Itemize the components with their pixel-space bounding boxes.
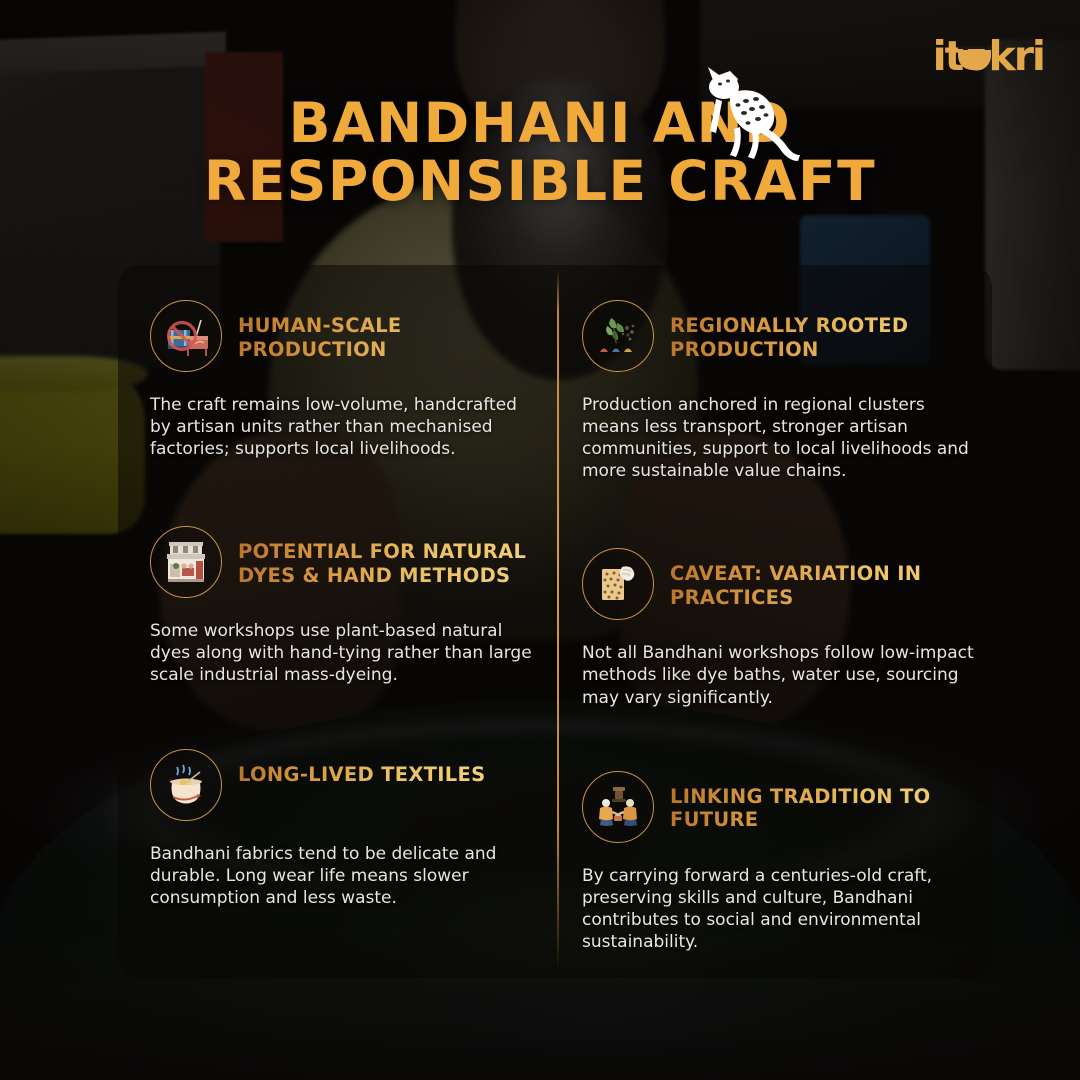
feature-title: CAVEAT: VARIATION IN PRACTICES xyxy=(670,548,982,610)
spacer xyxy=(582,709,982,771)
column-divider xyxy=(557,270,559,970)
feature-header: REGIONALLY ROOTED PRODUCTION xyxy=(582,300,982,372)
feature-title: POTENTIAL FOR NATURAL DYES & HAND METHOD… xyxy=(238,526,542,588)
feature-header: CAVEAT: VARIATION IN PRACTICES xyxy=(582,548,982,620)
feature-body: Some workshops use plant-based natural d… xyxy=(150,620,542,686)
feature-item-human-scale-production[interactable]: HUMAN-SCALE PRODUCTION The craft remains… xyxy=(150,300,542,460)
column-right: REGIONALLY ROOTED PRODUCTION Production … xyxy=(582,300,982,953)
leopard-silhouette-icon xyxy=(686,57,806,167)
feature-item-long-lived-textiles[interactable]: LONG-LIVED TEXTILES Bandhani fabrics ten… xyxy=(150,749,542,909)
column-left: HUMAN-SCALE PRODUCTION The craft remains… xyxy=(150,300,542,909)
feature-title: LINKING TRADITION TO FUTURE xyxy=(670,771,982,833)
feature-body: Bandhani fabrics tend to be delicate and… xyxy=(150,843,542,909)
leaves-and-dye-powders-icon xyxy=(582,300,654,372)
no-factory-machine-icon xyxy=(150,300,222,372)
hand-holding-patterned-fabric-icon xyxy=(582,548,654,620)
feature-body: Not all Bandhani workshops follow low-im… xyxy=(582,642,982,708)
feature-header: LONG-LIVED TEXTILES xyxy=(150,749,542,821)
page-title: BANDHANI AND RESPONSIBLE CRAFT xyxy=(0,95,1080,211)
feature-item-natural-dyes[interactable]: POTENTIAL FOR NATURAL DYES & HAND METHOD… xyxy=(150,526,542,686)
spacer xyxy=(150,460,542,526)
feature-body: The craft remains low-volume, handcrafte… xyxy=(150,394,542,460)
feature-title: LONG-LIVED TEXTILES xyxy=(238,749,486,787)
spacer xyxy=(582,482,982,548)
feature-item-linking-tradition[interactable]: LINKING TRADITION TO FUTURE By carrying … xyxy=(582,771,982,953)
feature-header: POTENTIAL FOR NATURAL DYES & HAND METHOD… xyxy=(150,526,542,598)
page-title-line-2: RESPONSIBLE CRAFT xyxy=(0,153,1080,211)
feature-header: LINKING TRADITION TO FUTURE xyxy=(582,771,982,843)
feature-title: HUMAN-SCALE PRODUCTION xyxy=(238,300,542,362)
brand-logo[interactable]: itokri xyxy=(933,36,1044,77)
feature-body: Production anchored in regional clusters… xyxy=(582,394,982,482)
feature-title: REGIONALLY ROOTED PRODUCTION xyxy=(670,300,982,362)
page-title-line-1: BANDHANI AND xyxy=(0,95,1080,153)
infographic-canvas: itokri BANDHANI AND RESPONSIBLE CRAFT xyxy=(0,0,1080,1080)
feature-header: HUMAN-SCALE PRODUCTION xyxy=(150,300,542,372)
two-artisans-working-icon xyxy=(582,771,654,843)
steaming-dye-pot-icon xyxy=(150,749,222,821)
feature-item-regionally-rooted[interactable]: REGIONALLY ROOTED PRODUCTION Production … xyxy=(582,300,982,482)
feature-body: By carrying forward a centuries-old craf… xyxy=(582,865,982,953)
feature-item-caveat-variation[interactable]: CAVEAT: VARIATION IN PRACTICES Not all B… xyxy=(582,548,982,708)
artisan-workshop-building-icon xyxy=(150,526,222,598)
spacer xyxy=(150,687,542,749)
